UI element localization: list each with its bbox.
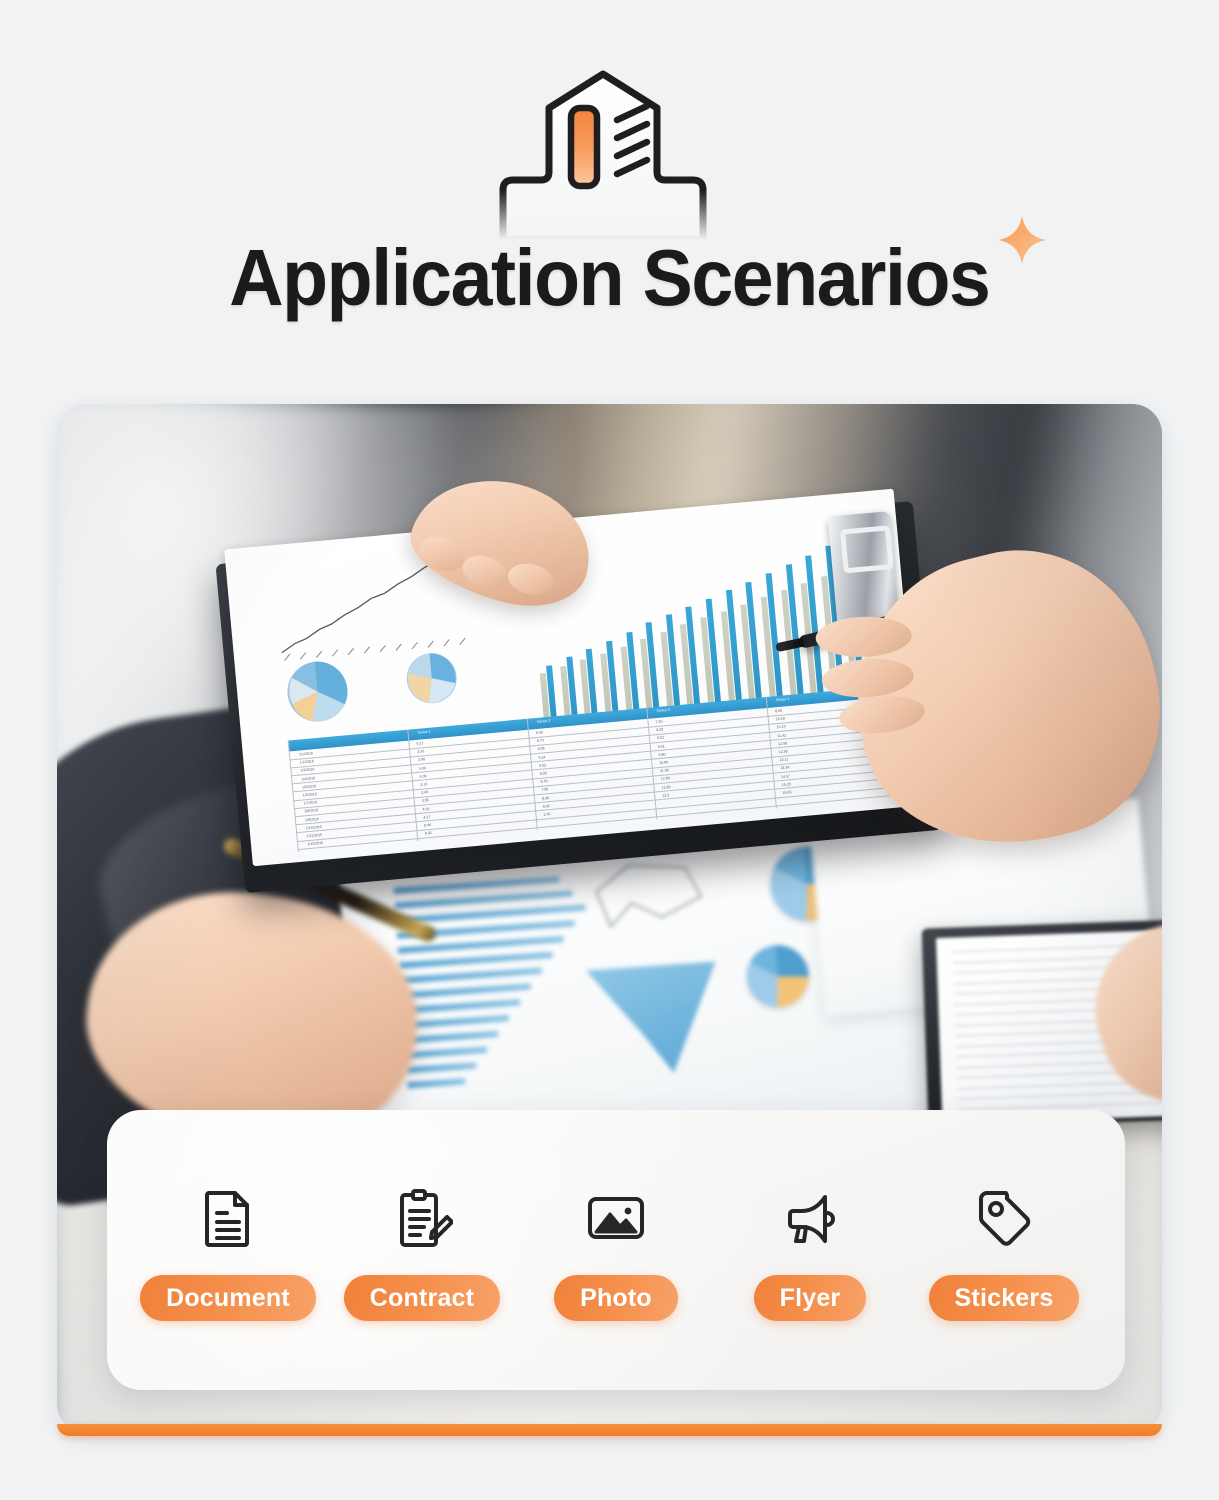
table-cell-value: 3.85 [422, 798, 429, 803]
megaphone-icon [771, 1179, 849, 1257]
ruled-line [958, 1091, 1162, 1099]
background-hbar [399, 952, 553, 969]
document-icon [189, 1179, 267, 1257]
clipboard-pencil-icon [383, 1179, 461, 1257]
table-cell-value: 9.80 [658, 752, 665, 757]
background-hbar [403, 1015, 509, 1028]
background-hbar [407, 1078, 465, 1088]
table-cell-value: 3.98 [418, 758, 425, 763]
background-hbar [402, 999, 520, 1013]
table-cell-value: 8.30 [656, 728, 663, 733]
image-icon [577, 1179, 655, 1257]
category-label-pill[interactable]: Document [140, 1275, 316, 1321]
background-pie-chart [745, 943, 811, 1009]
page-root: Application Scenarios [0, 0, 1219, 1500]
background-hbar [394, 876, 560, 894]
table-cell-value: 8.99 [542, 796, 549, 801]
table-cell-value: 8.45 [425, 831, 432, 836]
ruled-line [958, 1102, 1162, 1110]
category-item-stickers[interactable]: Stickers [911, 1179, 1097, 1321]
page-title: Application Scenarios [229, 238, 989, 318]
background-hbar [405, 1047, 487, 1059]
category-label-pill[interactable]: Photo [554, 1275, 678, 1321]
table-cell-value: 7.88 [541, 788, 548, 793]
table-cell-value: 12.80 [661, 777, 670, 782]
table-cell-value: 3.45 [543, 812, 550, 817]
category-label-pill[interactable]: Contract [344, 1275, 500, 1321]
category-item-contract[interactable]: Contract [329, 1179, 515, 1321]
background-hbar [406, 1062, 476, 1073]
table-cell-value: 8.50 [775, 709, 782, 714]
category-list: DocumentContractPhotoFlyerStickers [107, 1110, 1125, 1390]
building-skyscraper-icon [497, 68, 709, 240]
report-pie-chart-2 [402, 649, 461, 708]
application-categories-card: DocumentContractPhotoFlyerStickers [107, 1110, 1125, 1390]
table-cell-value: 8.78 [540, 779, 547, 784]
table-cell-value: 7.50 [655, 720, 662, 725]
title-wrap: Application Scenarios [205, 238, 1014, 318]
title-row: Application Scenarios [0, 238, 1219, 318]
table-cell-value: 4.08 [419, 774, 426, 779]
orange-accent-bar [57, 1424, 1162, 1436]
background-hbar [395, 890, 573, 908]
table-cell-value: 9.08 [537, 747, 544, 752]
table-cell-value: 4.01 [422, 807, 429, 812]
table-cell-value: 14.57 [781, 774, 790, 779]
table-cell-value: 3.13 [420, 782, 427, 787]
price-tag-icon [965, 1179, 1043, 1257]
category-label-pill[interactable]: Stickers [929, 1275, 1080, 1321]
table-cell-value: 9.03 [539, 763, 546, 768]
category-label-pill[interactable]: Flyer [754, 1275, 867, 1321]
table-cell-value: 11.80 [660, 768, 669, 773]
table-cell-value: 12.55 [779, 749, 788, 754]
background-hbar [401, 983, 531, 998]
table-cell-value: 12.80 [661, 785, 670, 790]
table-cell-value: 16.55 [782, 790, 791, 795]
header: Application Scenarios [0, 0, 1219, 390]
finger [459, 550, 512, 593]
finger [505, 560, 556, 599]
table-cell-value: 9.01 [658, 744, 665, 749]
sparkle-icon [996, 214, 1048, 266]
background-network-chart [588, 850, 714, 948]
table-cell-value: 15.20 [782, 782, 791, 787]
table-cell-value: 12.08 [778, 741, 787, 746]
table-cell-value: 13.3 [662, 793, 669, 798]
table-cell-value: 3.49 [421, 790, 428, 795]
table-cell-value: 8.00 [540, 771, 547, 776]
table-cell-value: 6.50 [536, 730, 543, 735]
category-item-document[interactable]: Document [135, 1179, 321, 1321]
table-cell-value: 8.46 [424, 823, 431, 828]
table-cell-value: 8.95 [543, 804, 550, 809]
category-item-flyer[interactable]: Flyer [717, 1179, 903, 1321]
table-cell-value: 4.09 [419, 766, 426, 771]
table-cell-value: 4.37 [423, 815, 430, 820]
background-hbar [400, 968, 542, 984]
table-cell-value: 15.80 [659, 760, 668, 765]
table-cell-value: 6.17 [416, 741, 423, 746]
table-cell-value: 8.74 [537, 739, 544, 744]
table-cell-value: 13.34 [780, 766, 789, 771]
table-cell-value: 10.19 [776, 725, 785, 730]
report-pie-chart-1 [283, 657, 353, 727]
table-cell-value: 9.02 [657, 736, 664, 741]
table-cell-value: 11.42 [777, 733, 786, 738]
background-hbar [404, 1031, 498, 1044]
table-cell-value: 9.34 [538, 755, 545, 760]
table-cell-value: 10.18 [776, 717, 785, 722]
background-funnel-chart [586, 962, 723, 1079]
table-cell-value: 3.55 [417, 749, 424, 754]
category-item-photo[interactable]: Photo [523, 1179, 709, 1321]
table-cell-value: 13.11 [779, 757, 788, 762]
